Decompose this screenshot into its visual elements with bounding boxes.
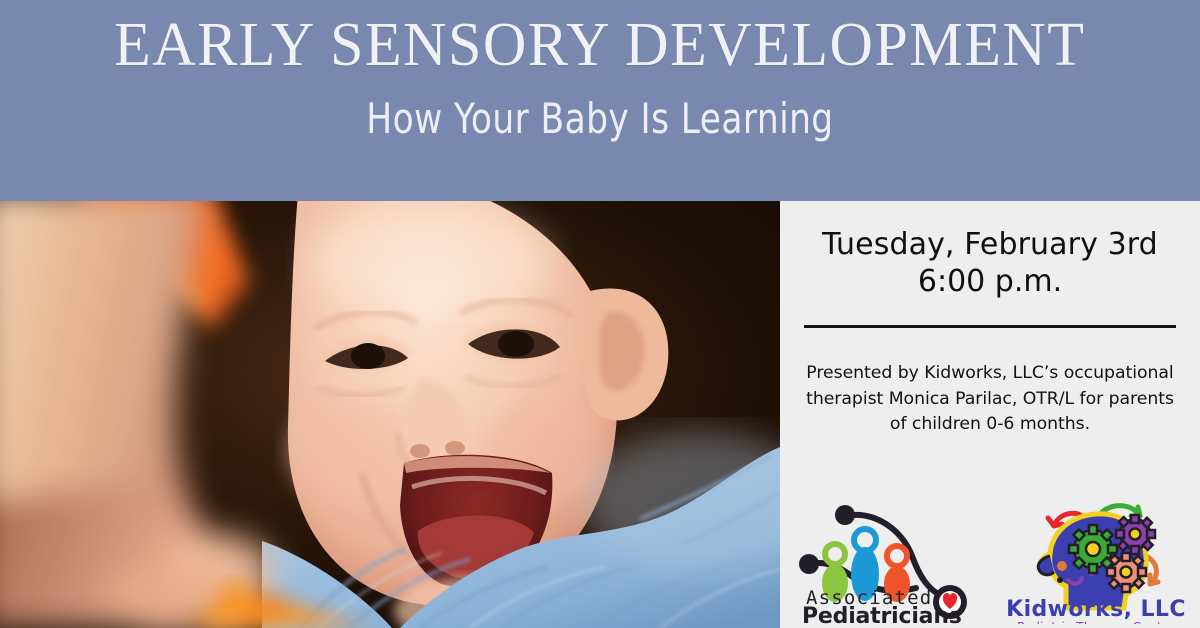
event-date: Tuesday, February 3rd	[822, 227, 1158, 264]
event-poster: EARLY SENSORY DEVELOPMENT How Your Baby …	[0, 0, 1200, 628]
kidworks-tagline: Pediatric Therapy Center	[1017, 619, 1176, 624]
gear-icon	[1069, 525, 1117, 573]
presenter-description: Presented by Kidworks, LLC’s occupationa…	[799, 361, 1181, 438]
event-time: 6:00 p.m.	[918, 264, 1062, 301]
stethoscope-earpiece-icon	[835, 505, 855, 525]
stethoscope-earpiece-icon	[799, 554, 819, 574]
kidworks-logo: Kidworks, LLC Pediatric Therapy Center	[998, 494, 1194, 624]
event-info-panel: Tuesday, February 3rd 6:00 p.m. Presente…	[780, 201, 1200, 628]
section-divider	[804, 325, 1176, 328]
page-subtitle: How Your Baby Is Learning	[366, 98, 833, 140]
page-title: EARLY SENSORY DEVELOPMENT	[114, 14, 1085, 76]
gear-icon	[1116, 515, 1155, 554]
cheek-icon	[1057, 561, 1067, 571]
baby-photo	[0, 201, 780, 628]
gear-icon	[1107, 553, 1146, 592]
associated-pediatricians-logo: Associated Pediatricians	[790, 494, 990, 626]
logo-row: Associated Pediatricians	[780, 492, 1200, 628]
logo-line-2: Pediatricians	[802, 604, 962, 626]
poster-header-band: EARLY SENSORY DEVELOPMENT How Your Baby …	[0, 0, 1200, 201]
